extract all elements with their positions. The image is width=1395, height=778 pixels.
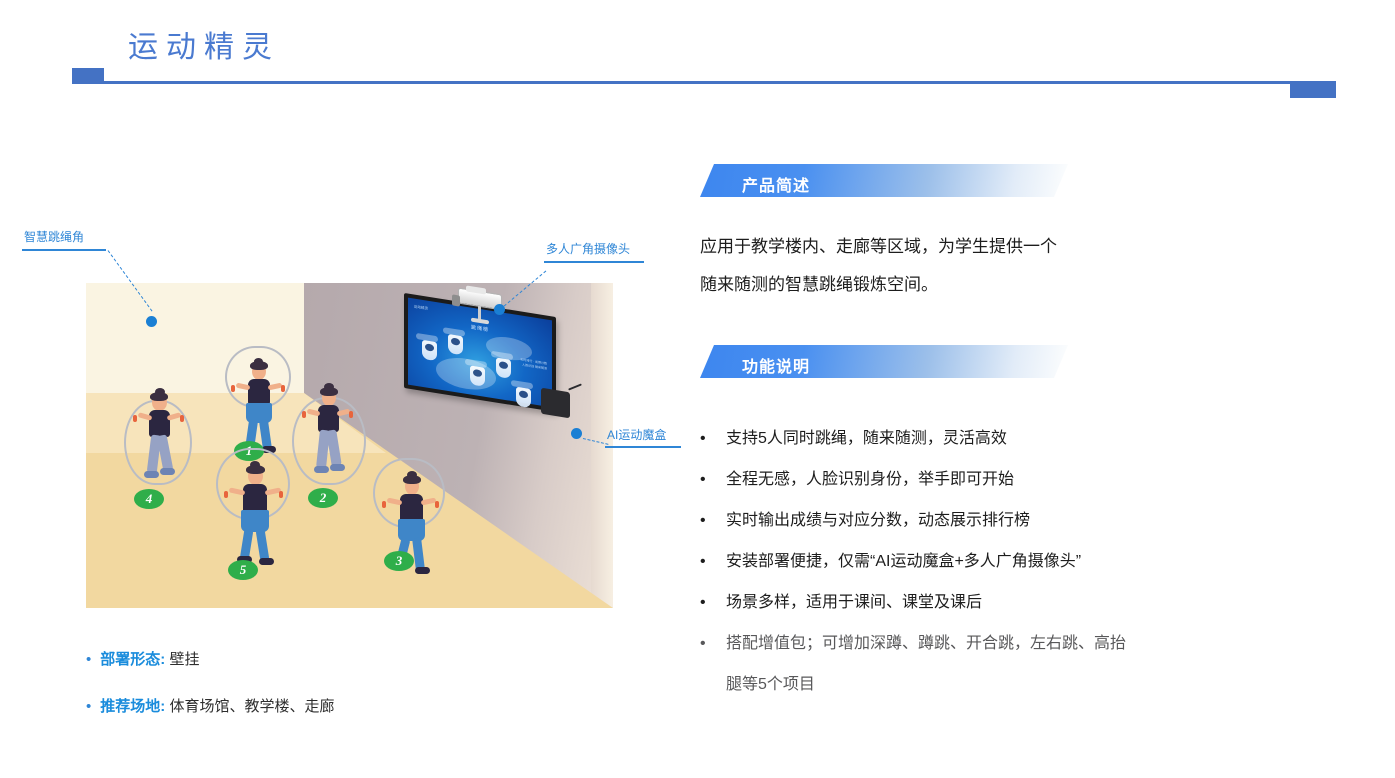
floor-marker-5: 5 [228,560,258,580]
feature-item: • 搭配增值包；可增加深蹲、蹲跳、开合跳，左右跳、高抬 腿等5个项目 [700,623,1350,705]
feature-bullet: • [700,623,726,664]
person-5 [214,448,294,568]
person-4 [122,388,197,498]
scene-illustration: 运动精灵 跳绳榜 实时排行 · 成绩分数人脸识别 随来随测 [86,283,613,608]
page-title: 运动精灵 [128,22,280,66]
feature-bullet: • [700,541,726,582]
feature-text: 全程无感，人脸识别身份，举手即可开始 [726,459,1350,500]
feature-text-line-1: 搭配增值包；可增加深蹲、蹲跳、开合跳，左右跳、高抬 [726,635,1126,652]
person-1 [221,346,296,456]
spec-bullet: • [86,651,91,668]
display-badge [422,340,437,361]
spec-bullet: • [86,698,91,715]
feature-item: • 安装部署便捷，仅需“AI运动魔盒+多人广角摄像头” [700,541,1350,582]
callout-underline [22,249,106,251]
floor-marker-4: 4 [134,489,164,509]
feature-bullet: • [700,582,726,623]
banner-label-function-description: 功能说明 [742,353,810,377]
feature-text: 实时输出成绩与对应分数，动态展示排行榜 [726,500,1350,541]
callout-underline [544,261,644,263]
ai-box [541,388,570,419]
feature-item: • 实时输出成绩与对应分数，动态展示排行榜 [700,500,1350,541]
callout-dot-ai-sport-box [571,428,582,439]
feature-bullet: • [700,459,726,500]
feature-bullet: • [700,418,726,459]
product-summary-line-2: 随来随测的智慧跳绳锻炼空间。 [700,266,938,304]
display-badge [470,365,485,386]
callout-label-wide-angle-camera: 多人广角摄像头 [546,240,630,257]
feature-text: 场景多样，适用于课间、课堂及课后 [726,582,1350,623]
floor-marker-2: 2 [308,488,338,508]
feature-item: • 全程无感，人脸识别身份，举手即可开始 [700,459,1350,500]
feature-text-line-2: 腿等5个项目 [726,676,815,693]
person-2 [289,383,369,498]
callout-underline [605,446,681,448]
title-cap-right [1290,81,1336,98]
callout-dot-smart-rope-corner [146,316,157,327]
floor-marker-3: 3 [384,551,414,571]
feature-text: 安装部署便捷，仅需“AI运动魔盒+多人广角摄像头” [726,541,1350,582]
spec-deployment: •部署形态: 壁挂 [86,648,199,669]
title-rule [72,81,1332,84]
feature-bullet: • [700,500,726,541]
display-title: 跳绳榜 [471,324,489,334]
feature-text: 支持5人同时跳绳，随来随测，灵活高效 [726,418,1350,459]
spec-value: 体育场馆、教学楼、走廊 [169,698,334,715]
feature-item: • 支持5人同时跳绳，随来随测，灵活高效 [700,418,1350,459]
display-badge [448,334,463,355]
feature-list: • 支持5人同时跳绳，随来随测，灵活高效 • 全程无感，人脸识别身份，举手即可开… [700,418,1350,705]
callout-label-ai-sport-box: AI运动魔盒 [607,426,666,443]
spec-key: 推荐场地: [100,698,165,715]
display-badge [516,387,531,408]
feature-item: • 场景多样，适用于课间、课堂及课后 [700,582,1350,623]
spec-venue: •推荐场地: 体育场馆、教学楼、走廊 [86,695,334,716]
camera-lens [452,294,460,306]
callout-dot-wide-angle-camera [494,304,505,315]
banner-label-product-summary: 产品简述 [742,172,810,196]
product-summary-line-1: 应用于教学楼内、走廊等区域，为学生提供一个 [700,228,1057,266]
spec-key: 部署形态: [100,651,165,668]
callout-label-smart-rope-corner: 智慧跳绳角 [24,228,84,245]
display-logo: 运动精灵 [414,305,428,312]
spec-value: 壁挂 [169,651,199,668]
display-badge [496,358,511,379]
feature-text-wrapped: 搭配增值包；可增加深蹲、蹲跳、开合跳，左右跳、高抬 腿等5个项目 [726,623,1350,705]
slide-page: 运动精灵 运动精灵 跳绳榜 实时排行 · 成绩分数人脸识别 随来随测 [0,0,1395,778]
display-side-text: 实时排行 · 成绩分数人脸识别 随来随测 [520,357,547,370]
